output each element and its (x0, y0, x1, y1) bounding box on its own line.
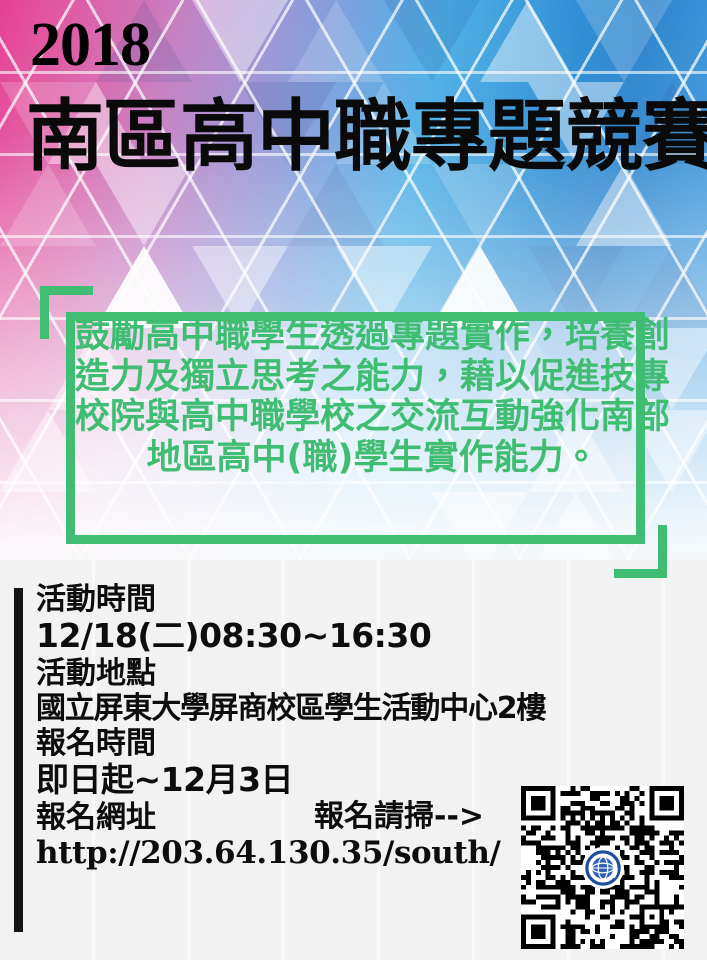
poster-root: 2018 南區高中職專題競賽 鼓勵高中職學生透過專題實作，培養創造力及獨立思考之… (0, 0, 707, 960)
signup-url[interactable]: http://203.64.130.35/south/ (36, 835, 556, 872)
info-accent-bar (14, 588, 23, 932)
description-text: 鼓勵高中職學生透過專題實作，培養創造力及獨立思考之能力，藉以促進技專校院與高中職… (75, 316, 670, 478)
info-label-signup-time: 報名時間 (36, 726, 556, 761)
registration-qr-code[interactable] (521, 786, 684, 949)
poster-year: 2018 (30, 14, 150, 76)
info-label-event-time: 活動時間 (36, 582, 556, 617)
description-frame: 鼓勵高中職學生透過專題實作，培養創造力及獨立思考之能力，藉以促進技專校院與高中職… (40, 286, 667, 578)
info-block: 活動時間 12/18(二)08:30~16:30 活動地點 國立屏東大學屏商校區… (36, 582, 556, 872)
info-label-event-place: 活動地點 (36, 656, 556, 691)
info-label-signup-url: 報名網址 報名請掃--> (36, 800, 556, 835)
scan-hint-label: 報名請掃--> (314, 799, 484, 834)
info-value-event-time: 12/18(二)08:30~16:30 (36, 617, 556, 656)
poster-title: 南區高中職專題競賽 (26, 96, 707, 179)
info-value-signup-time: 即日起~12月3日 (36, 761, 556, 800)
info-value-event-place: 國立屏東大學屏商校區學生活動中心2樓 (36, 691, 556, 726)
info-label-signup-url-text: 報名網址 (36, 800, 156, 835)
globe-emblem-icon (582, 847, 624, 889)
